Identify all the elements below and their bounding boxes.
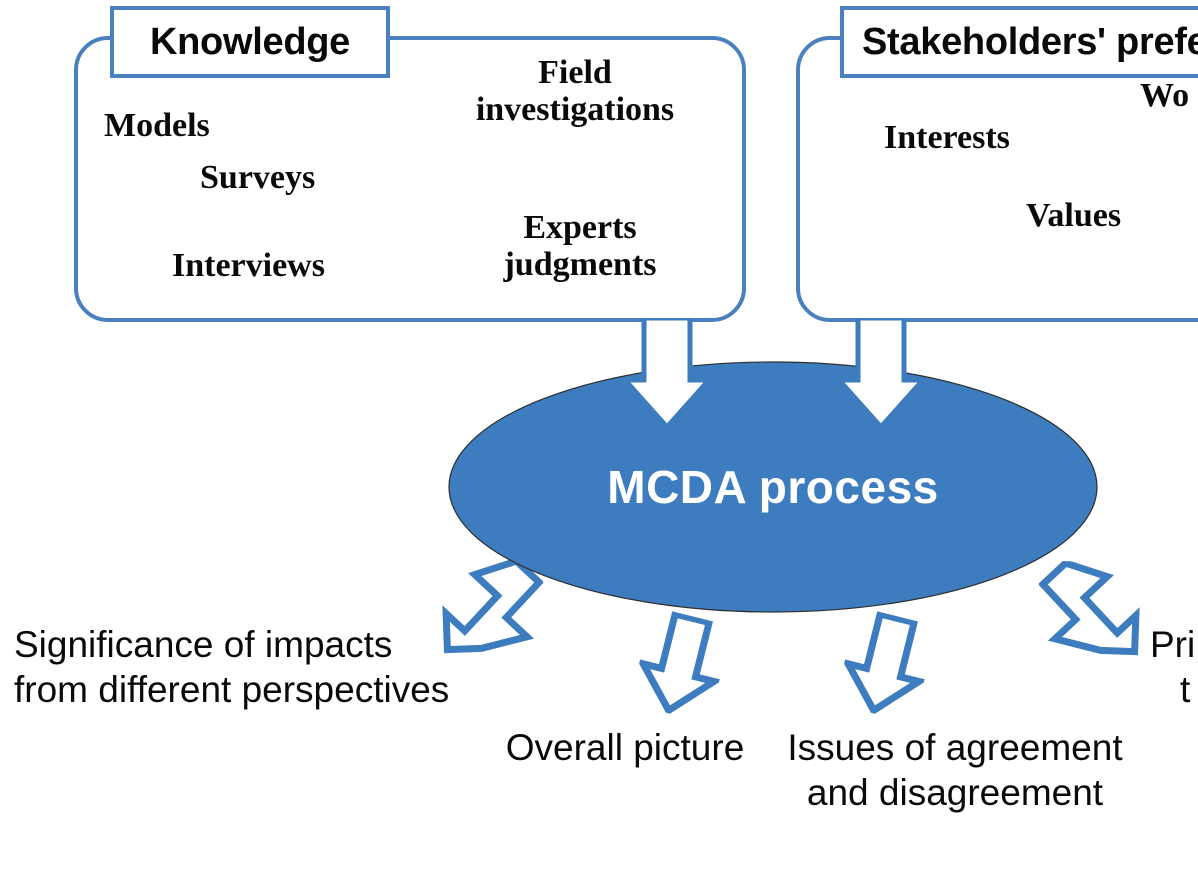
knowledge-item-interviews: Interviews — [172, 248, 325, 285]
input-panel-knowledge-header-label: Knowledge — [150, 21, 350, 64]
knowledge-item-field-investigations-l1: Field — [440, 55, 710, 92]
input-arrow-stakeholders — [838, 318, 924, 428]
knowledge-item-experts-judgments-l1: Experts — [460, 210, 700, 247]
input-panel-stakeholders — [796, 36, 1198, 322]
knowledge-item-experts-judgments-l2: judgments — [460, 247, 700, 284]
stakeholders-item-interests: Interests — [884, 120, 1010, 157]
input-arrow-knowledge — [624, 318, 710, 428]
output-label-significance-l1: Significance of impacts — [14, 622, 484, 667]
input-panel-stakeholders-header-label: Stakeholders' prefe — [862, 21, 1198, 64]
output-label-overall-picture-l1: Overall picture — [480, 725, 770, 770]
output-label-significance-l2: from different perspectives — [14, 667, 484, 712]
output-label-priorities-l1: Pri — [1150, 622, 1198, 667]
knowledge-item-surveys: Surveys — [200, 160, 315, 197]
mcda-process-ellipse-shape — [447, 360, 1099, 614]
output-arrow-overall-picture — [629, 607, 733, 724]
output-label-overall-picture: Overall picture — [480, 725, 770, 770]
output-label-priorities: Pri t — [1150, 622, 1198, 712]
stakeholders-item-worries: Wo — [1140, 78, 1189, 115]
output-label-priorities-l2: t — [1150, 667, 1198, 712]
output-label-significance: Significance of impacts from different p… — [14, 622, 484, 712]
knowledge-item-field-investigations: Field investigations — [440, 55, 710, 128]
output-label-agreement-l2: and disagreement — [775, 770, 1135, 815]
mcda-process-ellipse: MCDA process — [447, 360, 1099, 614]
knowledge-item-experts-judgments: Experts judgments — [460, 210, 700, 283]
diagram-canvas: Knowledge Models Surveys Field investiga… — [0, 0, 1198, 870]
output-label-agreement-l1: Issues of agreement — [775, 725, 1135, 770]
input-panel-stakeholders-header: Stakeholders' prefe — [840, 6, 1198, 78]
stakeholders-item-values: Values — [1026, 198, 1121, 235]
input-panel-knowledge-header: Knowledge — [110, 6, 390, 78]
output-label-agreement: Issues of agreement and disagreement — [775, 725, 1135, 815]
knowledge-item-field-investigations-l2: investigations — [440, 92, 710, 129]
output-arrow-agreement — [834, 607, 938, 724]
knowledge-item-models: Models — [104, 108, 210, 145]
